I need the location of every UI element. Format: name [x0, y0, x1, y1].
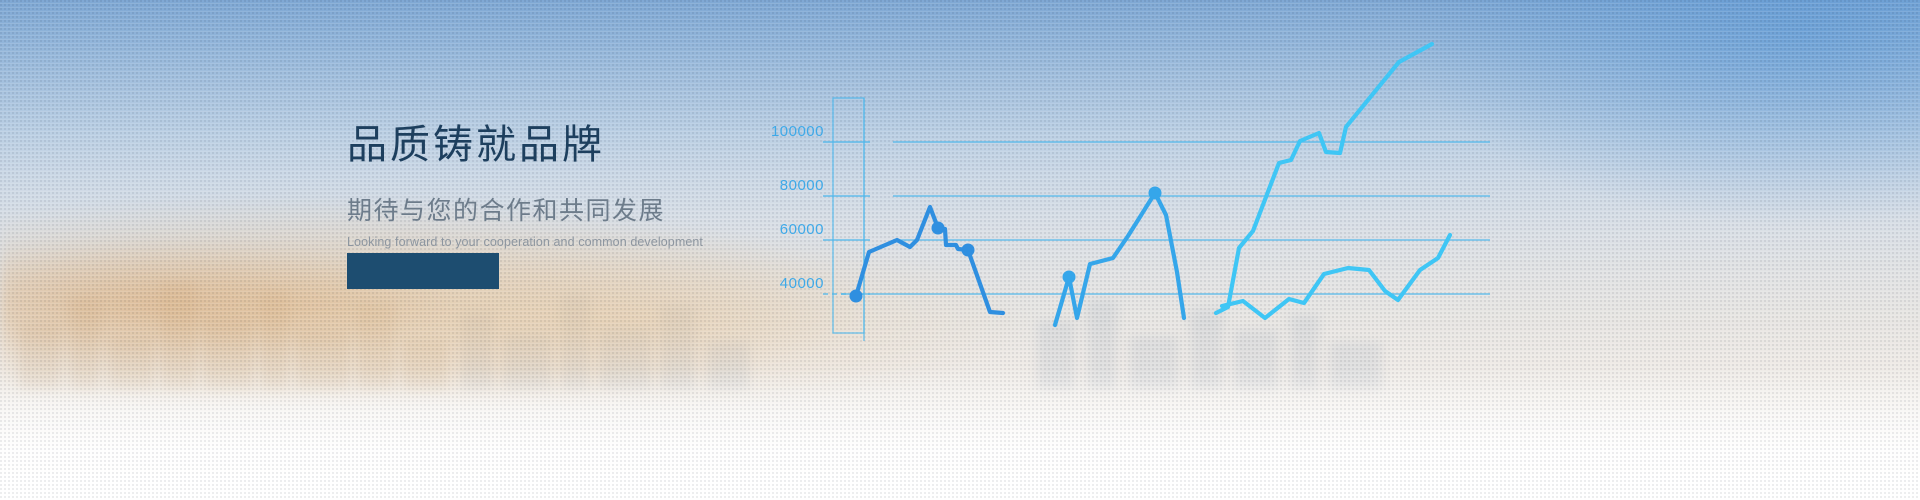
chart-axis-box — [833, 98, 864, 341]
series-line — [1222, 235, 1450, 318]
cta-button[interactable] — [347, 253, 499, 289]
copy-block: 品质铸就品牌 期待与您的合作和共同发展 Looking forward to y… — [347, 125, 777, 249]
chart-series — [850, 207, 1004, 313]
chart-series — [1222, 235, 1450, 318]
promo-banner: 品质铸就品牌 期待与您的合作和共同发展 Looking forward to y… — [0, 0, 1920, 500]
headline: 品质铸就品牌 — [347, 125, 777, 165]
line-chart-svg: 100000800006000040000 — [760, 0, 1920, 500]
y-axis-tick-label: 80000 — [780, 177, 824, 194]
data-point-marker — [850, 290, 863, 303]
chart-axis-labels: 100000800006000040000 — [771, 123, 824, 292]
line-chart: 100000800006000040000 — [760, 0, 1920, 500]
data-point-marker — [932, 222, 945, 235]
series-line — [856, 207, 1003, 313]
chart-series — [1055, 187, 1184, 326]
subheadline-english: Looking forward to your cooperation and … — [347, 235, 777, 249]
data-point-marker — [1063, 271, 1076, 284]
subheadline-chinese: 期待与您的合作和共同发展 — [347, 191, 777, 227]
y-axis-tick-label: 40000 — [780, 275, 824, 292]
y-axis-tick-label: 100000 — [771, 123, 824, 140]
y-axis-tick-label: 60000 — [780, 221, 824, 238]
chart-series-group — [850, 44, 1451, 325]
data-point-marker — [1149, 187, 1162, 200]
series-line — [1055, 193, 1184, 325]
data-point-marker — [962, 244, 975, 257]
chart-gridlines — [823, 142, 1490, 294]
